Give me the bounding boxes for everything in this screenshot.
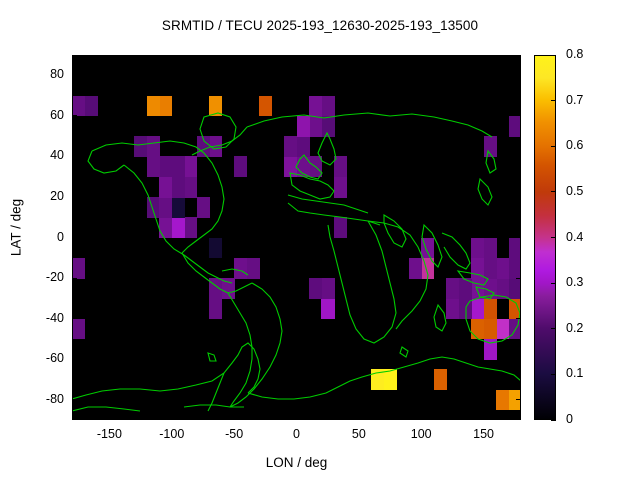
colorbar-tick-label: 0.7 [566,93,616,107]
colorbar-tick-label: 0.5 [566,184,616,198]
y-tick-mark [72,115,77,116]
x-tick-mark [171,415,172,420]
figure-canvas: SRMTID / TECU 2025-193_12630-2025-193_13… [0,0,640,480]
x-tick-mark [358,415,359,420]
y-tick-mark [516,115,521,116]
y-tick-mark [72,278,77,279]
colorbar-tick-mark [551,191,556,192]
y-tick-mark [72,318,77,319]
y-tick-mark [72,359,77,360]
colorbar-tick-mark [551,283,556,284]
y-tick-mark [72,399,77,400]
y-tick-mark [516,278,521,279]
x-tick-mark [358,55,359,60]
y-tick-label: 0 [24,230,64,244]
x-tick-mark [483,55,484,60]
x-tick-label: -50 [204,427,264,441]
y-tick-mark [516,359,521,360]
y-axis-label: LAT / deg [9,168,24,288]
colorbar-tick-mark [551,55,556,56]
y-tick-label: 40 [24,148,64,162]
x-tick-mark [483,415,484,420]
x-tick-mark [234,415,235,420]
x-axis-label: LON / deg [72,455,521,470]
chart-title: SRMTID / TECU 2025-193_12630-2025-193_13… [0,18,640,33]
x-tick-label: -150 [79,427,139,441]
x-tick-mark [234,55,235,60]
x-tick-label: 100 [391,427,451,441]
x-tick-mark [109,415,110,420]
y-tick-label: -20 [24,270,64,284]
colorbar-tick-mark [551,374,556,375]
coastline-overlay [72,55,521,420]
y-tick-label: -40 [24,311,64,325]
x-tick-mark [109,55,110,60]
colorbar-tick-mark [551,146,556,147]
y-tick-mark [72,156,77,157]
y-tick-mark [516,399,521,400]
colorbar-tick-label: 0 [566,412,616,426]
colorbar-tick-label: 0.6 [566,138,616,152]
colorbar-tick-mark [551,328,556,329]
y-tick-mark [72,237,77,238]
x-tick-mark [421,55,422,60]
x-tick-mark [421,415,422,420]
x-tick-mark [296,415,297,420]
colorbar-tick-label: 0.3 [566,275,616,289]
y-tick-label: 80 [24,67,64,81]
heatmap-plot-area[interactable] [72,55,521,420]
colorbar-tick-mark [551,420,556,421]
x-tick-label: 0 [267,427,327,441]
x-tick-mark [296,55,297,60]
x-tick-label: -100 [142,427,202,441]
colorbar-tick-label: 0.1 [566,366,616,380]
colorbar-tick-label: 0.4 [566,230,616,244]
y-tick-label: -60 [24,351,64,365]
x-tick-label: 50 [329,427,389,441]
y-tick-mark [72,196,77,197]
colorbar-tick-label: 0.2 [566,321,616,335]
y-tick-label: 20 [24,189,64,203]
y-tick-mark [516,75,521,76]
colorbar-tick-label: 0.8 [566,47,616,61]
y-tick-mark [516,196,521,197]
y-tick-label: -80 [24,392,64,406]
colorbar-tick-mark [551,237,556,238]
x-tick-mark [171,55,172,60]
y-tick-mark [516,318,521,319]
y-tick-mark [516,237,521,238]
colorbar-tick-mark [551,100,556,101]
y-tick-mark [72,75,77,76]
y-tick-mark [516,156,521,157]
y-tick-label: 60 [24,108,64,122]
x-tick-label: 150 [454,427,514,441]
